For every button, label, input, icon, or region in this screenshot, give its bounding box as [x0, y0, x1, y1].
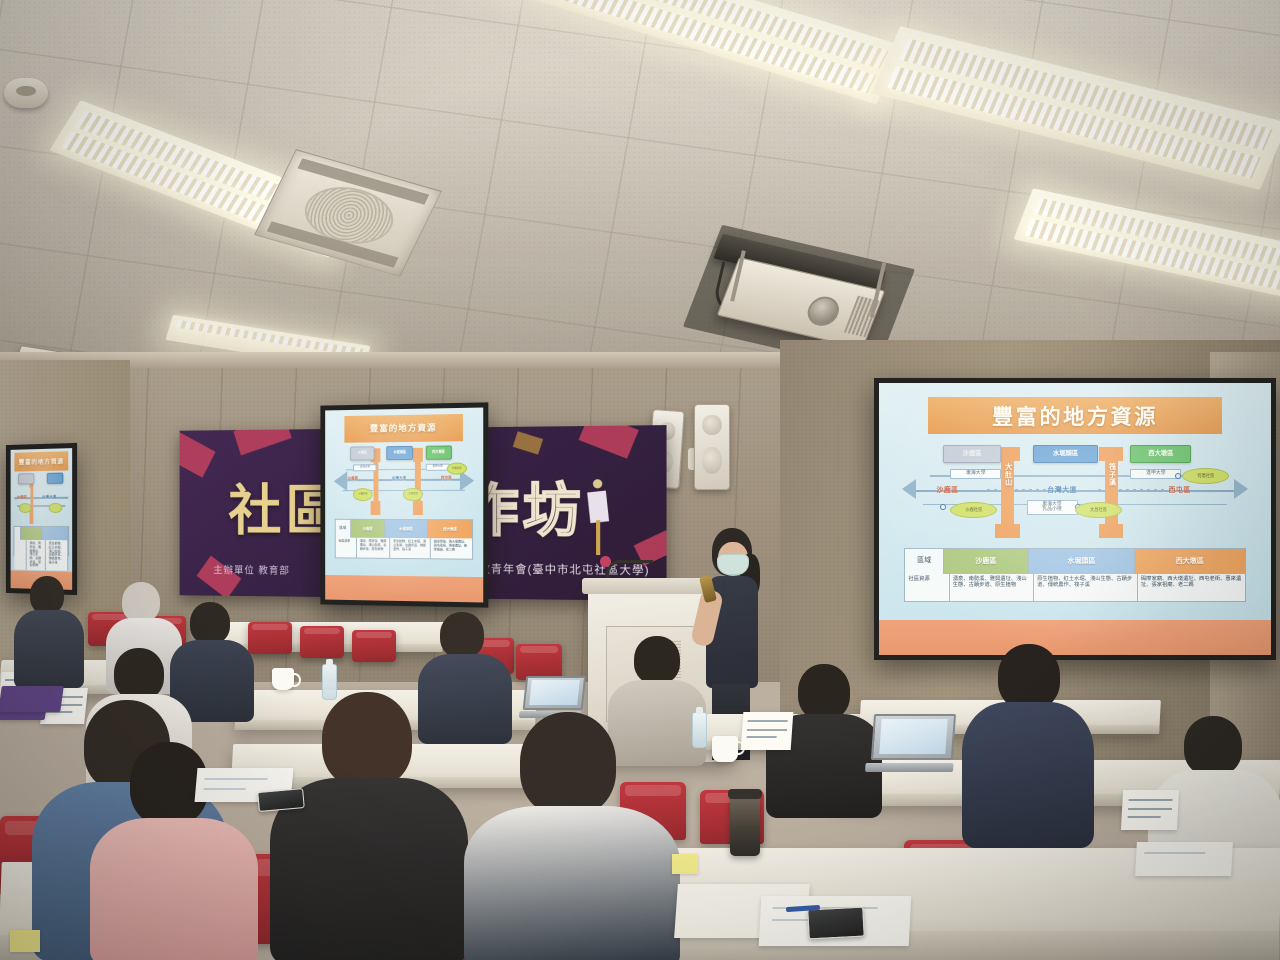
audience-member — [968, 644, 1088, 844]
resource-table: 區域 沙鹿區 水堀頭區 西大墩區 社區資源 湧泉、南勢溪、雅興遺址、淺山生態、古… — [335, 519, 474, 560]
region-chip-shuikutou: 水堀頭區 — [1033, 445, 1097, 463]
name-tent — [1121, 790, 1179, 830]
university-tag-fengchia: 逢甲大學 — [1130, 469, 1181, 478]
banner-left-credit: 主辦單位 教育部 — [213, 562, 290, 577]
coffee-cup[interactable] — [272, 668, 294, 690]
chair[interactable] — [352, 630, 396, 662]
wall-speaker — [694, 404, 730, 490]
slide-title-bar: 豐富的地方資源 — [344, 414, 463, 443]
face-mask — [717, 554, 749, 575]
region-chip-shalu: 沙鹿區 — [943, 445, 1000, 463]
smoke-detector-icon — [4, 78, 48, 108]
travel-tumbler[interactable] — [730, 794, 760, 856]
document[interactable] — [1135, 842, 1233, 876]
coffee-cup[interactable] — [712, 736, 738, 762]
right-arrow-head-icon — [1234, 479, 1248, 499]
table-row-label: 社區資源 — [905, 574, 949, 601]
sticky-note — [10, 930, 40, 952]
audience-member — [778, 664, 870, 814]
secondary-projection-screen: 豐富的地方資源 沙鹿區 水堀頭區 西大墩區 東海大學 逢甲大學 沙鹿社區 文昌社… — [320, 402, 488, 607]
vertical-arrow-fazixi: 筏子溪 — [1099, 447, 1123, 539]
table-header-row: 區域 沙鹿區 水堀頭區 西大墩區 — [905, 549, 1244, 574]
table-row-label: 區域 — [905, 549, 943, 574]
axis-label-left: 沙鹿區 — [936, 484, 958, 494]
tertiary-projection-screen: 豐富的地方資源 沙鹿區 台灣大道 — [6, 443, 77, 595]
slide-title-bar: 豐富的地方資源 — [928, 397, 1223, 434]
banner-figure-decoration — [583, 479, 618, 555]
audience-member — [276, 692, 454, 960]
table-header-shuikutou: 水堀頭區 — [1029, 549, 1135, 574]
smartphone[interactable] — [807, 907, 864, 940]
chair[interactable] — [516, 644, 562, 680]
table-cell-xidadun-resources: 碣摩家廟、西大墩遺址、西屯老街、惠來遺址、張家祖廟、老二媽 — [1138, 574, 1245, 601]
left-arrow-head-icon — [902, 479, 916, 499]
chair[interactable] — [300, 626, 344, 658]
axis-label-center: 台灣大道 — [1047, 484, 1077, 494]
region-chip-shuikutou: 水堀頭區 — [386, 446, 413, 460]
table-header-shalu: 沙鹿區 — [944, 549, 1029, 574]
water-bottle[interactable] — [692, 712, 707, 748]
audience-member — [16, 576, 80, 686]
chair[interactable] — [248, 622, 292, 654]
community-ellipse-shalu: 沙鹿社區 — [950, 502, 997, 518]
sticky-note — [672, 854, 698, 874]
resource-table: 區域 沙鹿區 水堀頭區 西大墩區 社區資源 湧泉、南勢溪、雅興遺址、淺山生態、古… — [904, 548, 1245, 602]
microphone-head-icon — [600, 556, 611, 567]
table-header-xidadun: 西大墩區 — [1135, 549, 1244, 574]
vertical-arrow-label: 大肚山 — [1003, 463, 1013, 486]
table-cell-shuikutou-resources: 原生植物、紅土水堀、淺山生態、古蹟步道、傳統農作、筏子溪 — [1034, 574, 1138, 601]
folder[interactable] — [0, 686, 64, 712]
slide-diagram: 沙鹿區 水堀頭區 西大墩區 東海大學 逢甲大學 沙鹿社區 文昌社區 何厝社區 沙… — [334, 445, 474, 516]
smartphone[interactable] — [257, 788, 305, 812]
university-tag-tunghai: 東海大學 — [950, 469, 1001, 478]
region-chip-xidadun: 西大墩區 — [1130, 445, 1191, 463]
region-chip-shalu: 沙鹿區 — [350, 446, 374, 460]
axis-label-right: 西屯區 — [1169, 484, 1191, 494]
meeting-room-photo: 社區大工作坊 主辦單位 教育部 人台中市基督教青年會(臺中市北屯社區大學) 豐富… — [0, 0, 1280, 960]
vertical-arrow-label: 筏子溪 — [1107, 463, 1117, 486]
audience-member — [472, 712, 668, 960]
community-ellipse-hecuo: 何厝社區 — [1182, 468, 1229, 484]
slide-title-text: 豐富的地方資源 — [992, 400, 1158, 431]
slide-diagram: 大肚山 筏子溪 沙鹿區 水堀頭區 西大墩區 東海大學 逢甲大學 東海大學 乳品小… — [902, 445, 1248, 541]
main-projection-screen: 豐富的地方資源 大肚山 — [874, 378, 1276, 660]
name-tent — [741, 712, 794, 750]
table-body-row: 社區資源 湧泉、南勢溪、雅興遺址、淺山生態、古蹟步道、原生植物 原生植物、紅土水… — [905, 574, 1244, 601]
table-cell-shalu-resources: 湧泉、南勢溪、雅興遺址、淺山生態、古蹟步道、原生植物 — [950, 574, 1034, 601]
slide-title-text: 豐富的地方資源 — [370, 422, 437, 435]
laptop[interactable] — [870, 714, 952, 772]
slide-content: 豐富的地方資源 大肚山 — [879, 383, 1271, 655]
site-tag-dairy-shop: 東海大學 乳品小棧 — [1027, 500, 1078, 515]
region-chip-xidadun: 西大墩區 — [425, 446, 451, 460]
